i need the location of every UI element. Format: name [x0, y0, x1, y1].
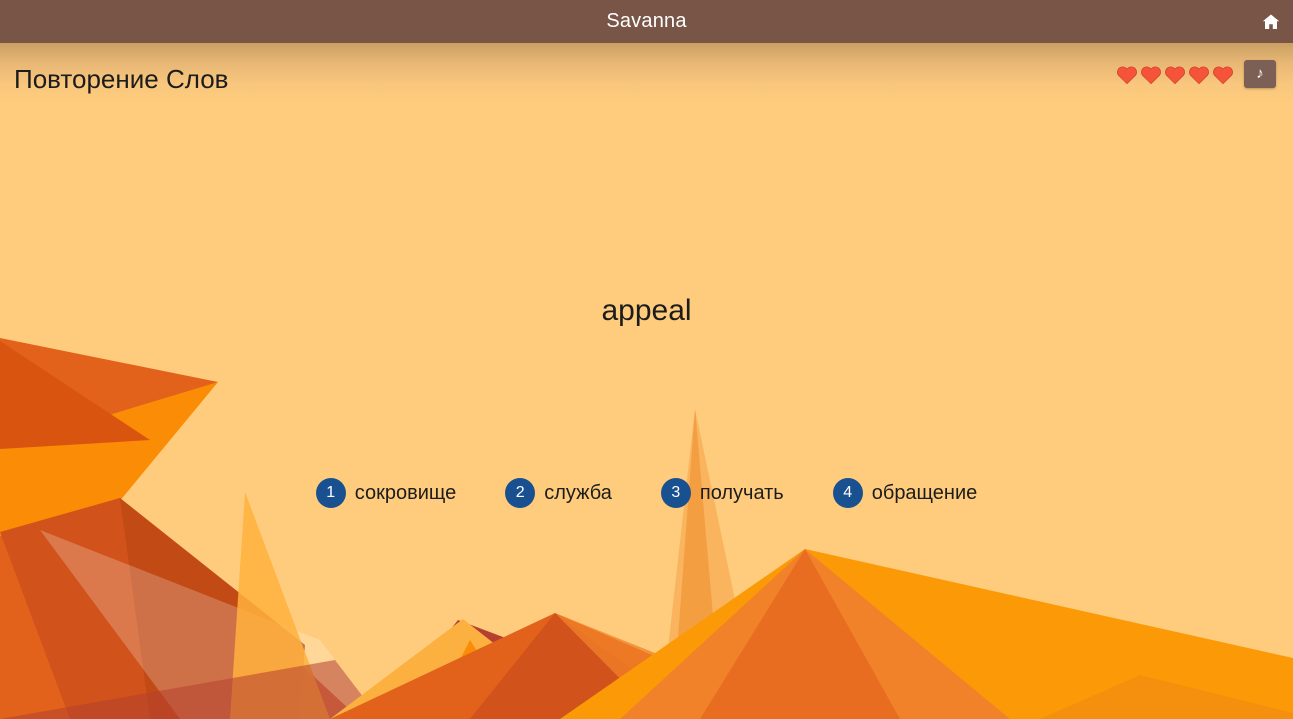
heart-icon — [1164, 64, 1186, 85]
answer-option-2[interactable]: 2 служба — [505, 478, 612, 508]
prompt-word: appeal — [0, 294, 1293, 328]
sound-toggle-button[interactable]: ♪ — [1244, 60, 1276, 88]
option-label: получать — [700, 482, 784, 505]
option-label: обращение — [872, 482, 978, 505]
heart-icon — [1140, 64, 1162, 85]
app-title: Savanna — [0, 0, 1293, 43]
answer-options: 1 сокровище 2 служба 3 получать 4 обраще… — [0, 478, 1293, 508]
heart-icon — [1212, 64, 1234, 85]
lesson-title: Повторение Слов — [14, 64, 228, 95]
savanna-game-screen: Savanna Повторение Слов — [0, 0, 1293, 719]
option-number-badge: 4 — [833, 478, 863, 508]
heart-icon — [1188, 64, 1210, 85]
heart-icon — [1116, 64, 1138, 85]
answer-option-1[interactable]: 1 сокровище — [316, 478, 457, 508]
answer-option-4[interactable]: 4 обращение — [833, 478, 978, 508]
answer-option-3[interactable]: 3 получать — [661, 478, 784, 508]
app-header-bar: Savanna — [0, 0, 1293, 43]
option-number-badge: 1 — [316, 478, 346, 508]
option-number-badge: 2 — [505, 478, 535, 508]
lives-hearts — [1116, 64, 1234, 85]
option-label: сокровище — [355, 482, 457, 505]
game-content: Повторение Слов ♪ a — [0, 0, 1293, 719]
home-icon[interactable] — [1258, 9, 1284, 35]
status-bar: ♪ — [1116, 60, 1276, 88]
option-label: служба — [544, 482, 612, 505]
option-number-badge: 3 — [661, 478, 691, 508]
